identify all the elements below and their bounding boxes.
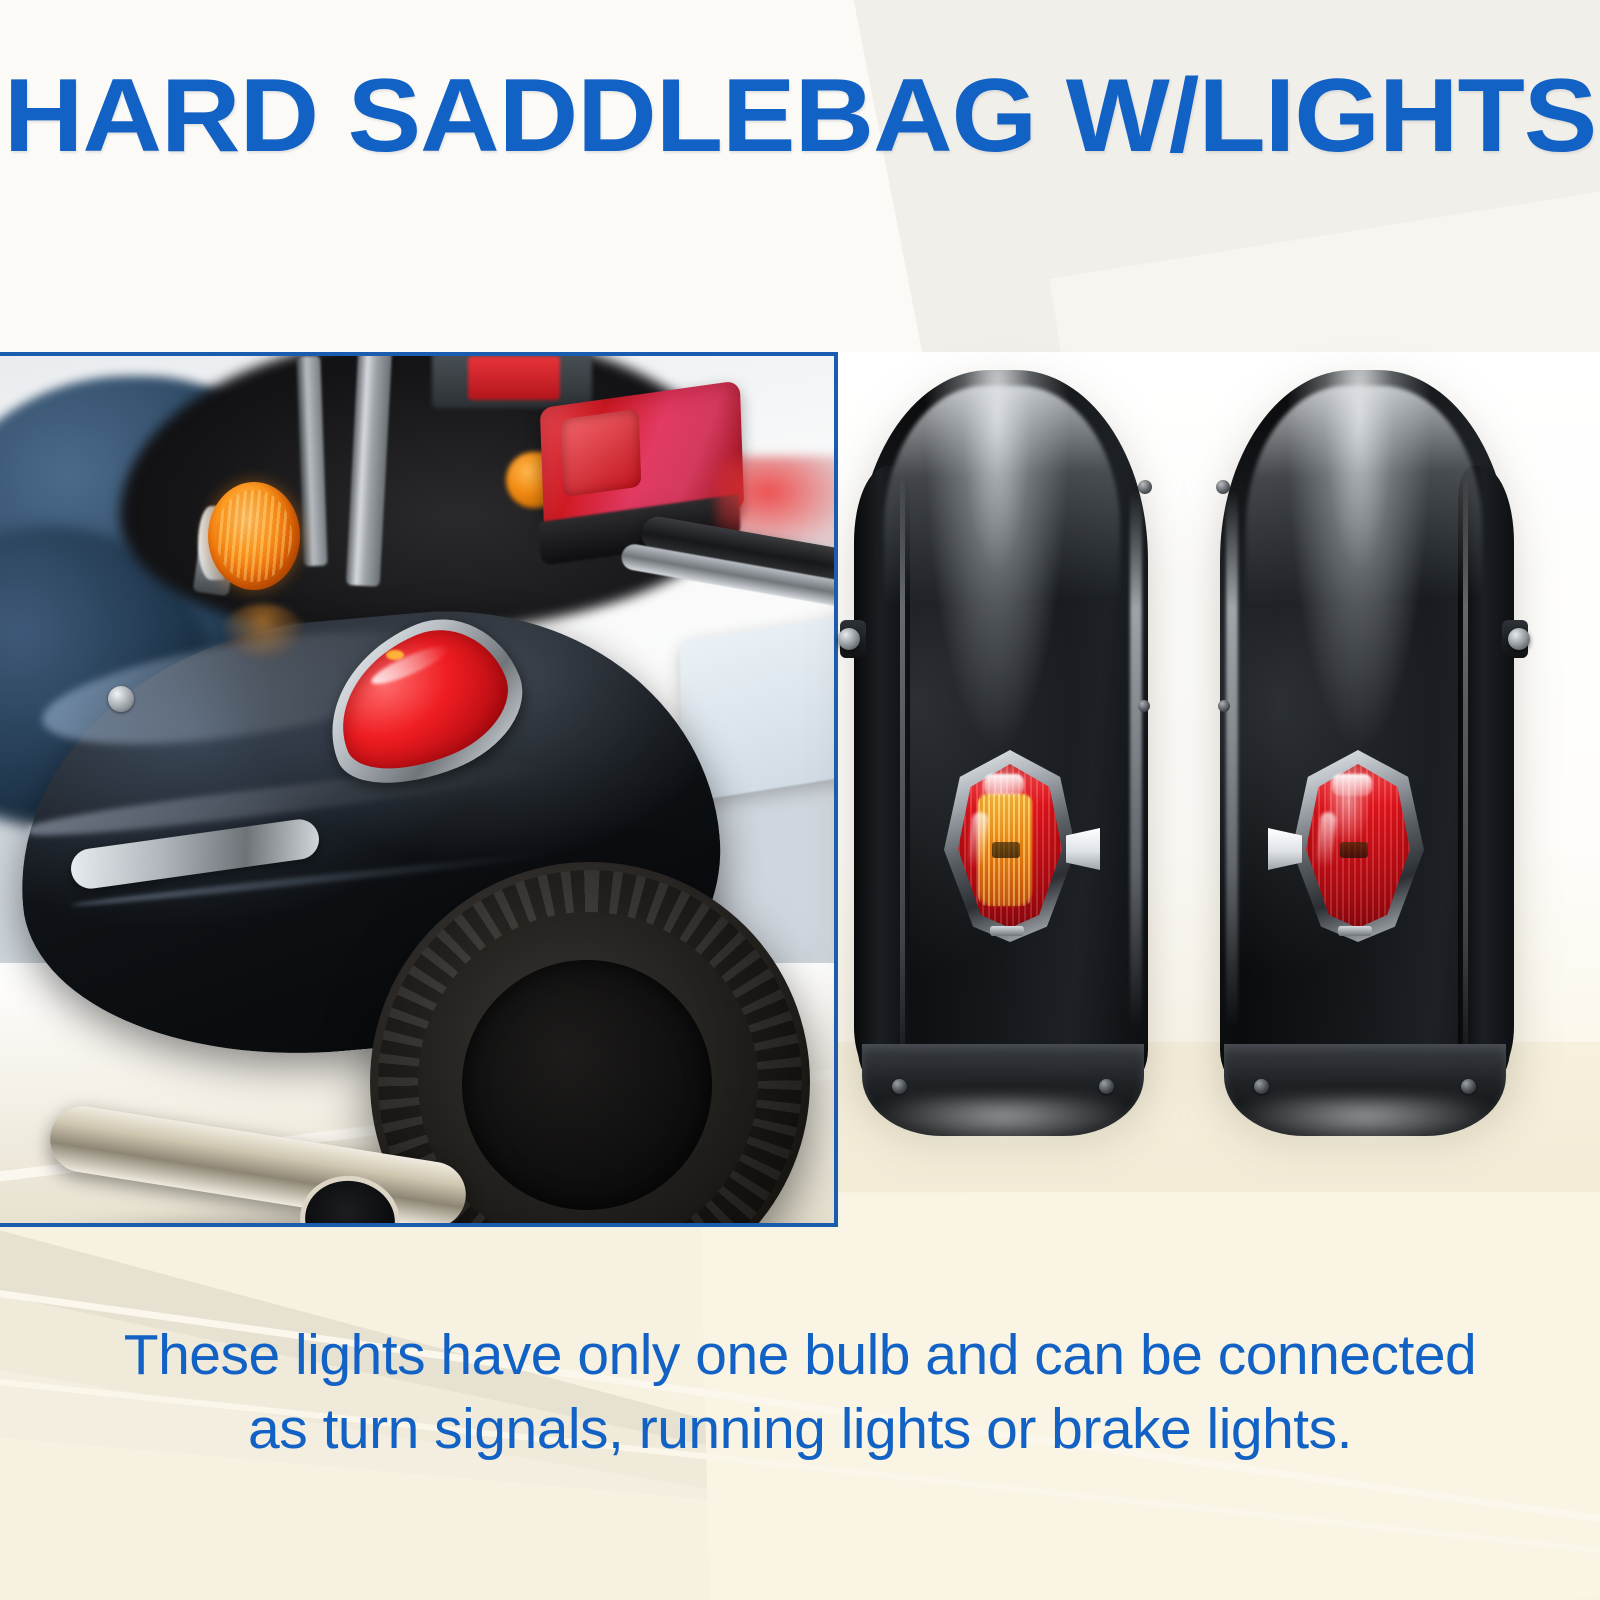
saddlebag-right-screw-bottom-right: [1461, 1079, 1476, 1094]
photo-amber-lens-ribs: [216, 490, 292, 582]
taillight-bulb: [992, 842, 1020, 858]
saddlebag-left-bottom-glow: [868, 1096, 1138, 1148]
saddlebag-right-bottom-glow: [1230, 1096, 1500, 1148]
photo-upper-red-reflector: [468, 356, 560, 400]
saddlebag-left: [858, 370, 1148, 1130]
photo-saddlebag-stud: [108, 686, 134, 712]
saddlebag-right-taillight: [1292, 750, 1424, 942]
photo-wheel-rim: [462, 960, 712, 1210]
saddlebag-left-mount-knob: [838, 628, 860, 650]
saddlebag-right-mount-knob-upper: [1216, 480, 1230, 494]
saddlebag-left-mount-knob-upper: [1138, 480, 1152, 494]
saddlebag-right-gloss: [1246, 386, 1482, 686]
product-marketing-image: HARD SADDLEBAG W/LIGHTS: [0, 0, 1600, 1600]
taillight-bottom-clip: [1338, 926, 1372, 936]
saddlebag-right-seam: [1463, 474, 1468, 1074]
photo-amber-reflection: [222, 604, 304, 660]
saddlebag-left-taillight: [944, 750, 1076, 942]
taillight-bulb: [1340, 842, 1368, 858]
taillight-highlight: [984, 774, 1024, 796]
taillight-bottom-clip: [990, 926, 1024, 936]
saddlebag-left-gloss: [884, 386, 1120, 686]
product-shot: [838, 352, 1600, 1192]
saddlebag-left-screw-bottom-right: [1099, 1079, 1114, 1094]
motorcycle-installed-photo: [0, 352, 838, 1227]
photo-under-shadow: [30, 1208, 550, 1227]
saddlebag-right: [1220, 370, 1510, 1130]
saddlebag-right-edge-highlight: [1226, 490, 1238, 1030]
saddlebag-left-seam: [900, 474, 905, 1074]
saddlebag-left-screw-bottom-left: [892, 1079, 907, 1094]
saddlebag-right-mount-knob-lower: [1218, 700, 1230, 712]
saddlebag-right-mount-knob: [1508, 628, 1530, 650]
saddlebag-left-mount-knob-lower: [1138, 700, 1150, 712]
taillight-highlight: [1332, 774, 1372, 796]
product-caption: These lights have only one bulb and can …: [90, 1318, 1510, 1466]
page-title: HARD SADDLEBAG W/LIGHTS: [0, 64, 1600, 168]
saddlebag-right-screw-bottom-left: [1254, 1079, 1269, 1094]
photo-brake-light-inner-lens: [561, 409, 642, 498]
saddlebag-left-edge-highlight: [1130, 490, 1142, 1030]
